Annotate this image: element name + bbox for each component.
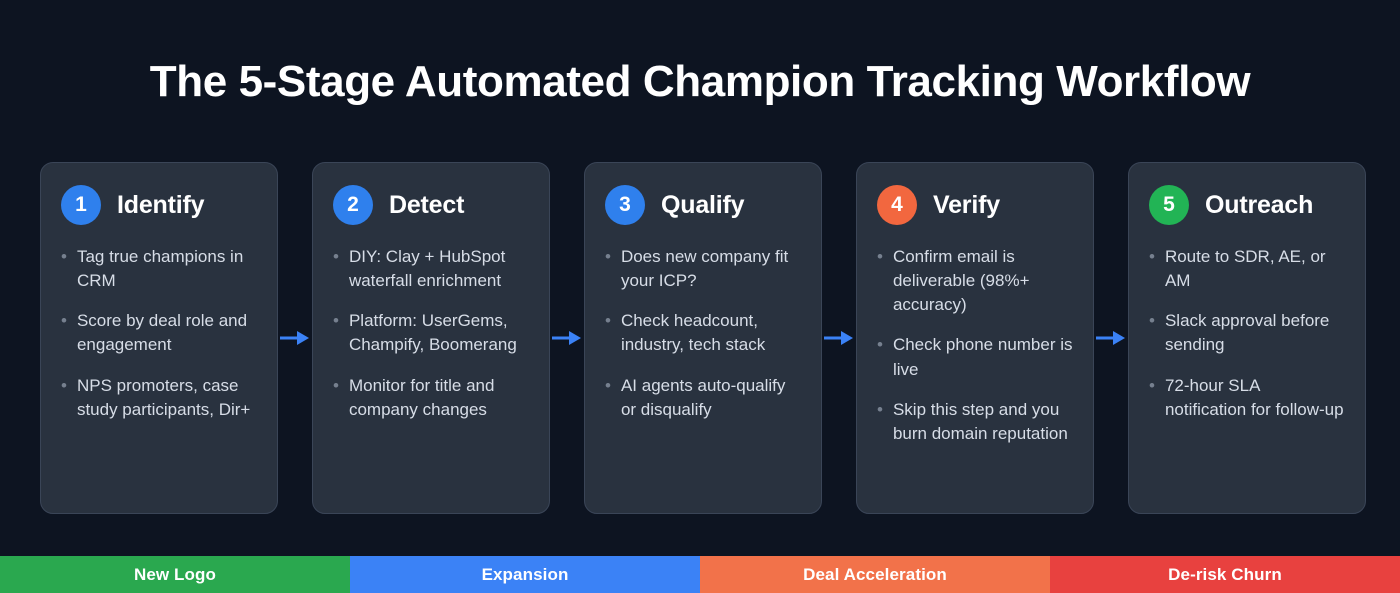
stage-number-badge: 4 — [877, 185, 917, 225]
stage-title: Outreach — [1205, 191, 1313, 220]
bullet-text: Monitor for title and company changes — [349, 374, 529, 422]
stage-card-header: 3Qualify — [605, 185, 801, 225]
bullet-text: Tag true champions in CRM — [77, 245, 257, 293]
bullet-text: 72-hour SLA notification for follow-up — [1165, 374, 1345, 422]
bullet-text: Confirm email is deliverable (98%+ accur… — [893, 245, 1073, 317]
bullet-dot-icon: • — [333, 374, 339, 422]
bullet-item: •Check phone number is live — [877, 333, 1073, 381]
legend-segment-deal-acceleration: Deal Acceleration — [700, 556, 1050, 593]
bullet-item: •Slack approval before sending — [1149, 309, 1345, 357]
arrow-right-icon — [822, 328, 856, 348]
legend-bar: New LogoExpansionDeal AccelerationDe-ris… — [0, 556, 1400, 593]
bullet-dot-icon: • — [877, 333, 883, 381]
stage-bullet-list: •DIY: Clay + HubSpot waterfall enrichmen… — [333, 245, 529, 422]
bullet-item: •Score by deal role and engagement — [61, 309, 257, 357]
legend-segment-expansion: Expansion — [350, 556, 700, 593]
stage-card-header: 4Verify — [877, 185, 1073, 225]
bullet-item: •Check headcount, industry, tech stack — [605, 309, 801, 357]
bullet-item: •Route to SDR, AE, or AM — [1149, 245, 1345, 293]
stage-title: Verify — [933, 191, 1000, 220]
stage-card-header: 5Outreach — [1149, 185, 1345, 225]
bullet-text: Platform: UserGems, Champify, Boomerang — [349, 309, 529, 357]
bullet-dot-icon: • — [1149, 245, 1155, 293]
bullet-dot-icon: • — [333, 245, 339, 293]
bullet-item: •AI agents auto-qualify or disqualify — [605, 374, 801, 422]
stage-title: Detect — [389, 191, 464, 220]
bullet-text: Check phone number is live — [893, 333, 1073, 381]
bullet-text: DIY: Clay + HubSpot waterfall enrichment — [349, 245, 529, 293]
stage-bullet-list: •Route to SDR, AE, or AM•Slack approval … — [1149, 245, 1345, 422]
bullet-dot-icon: • — [1149, 309, 1155, 357]
bullet-text: NPS promoters, case study participants, … — [77, 374, 257, 422]
bullet-item: •Monitor for title and company changes — [333, 374, 529, 422]
bullet-text: Does new company fit your ICP? — [621, 245, 801, 293]
arrow-4-5 — [1094, 162, 1128, 514]
bullet-text: Slack approval before sending — [1165, 309, 1345, 357]
bullet-dot-icon: • — [333, 309, 339, 357]
stage-card-outreach[interactable]: 5Outreach•Route to SDR, AE, or AM•Slack … — [1128, 162, 1366, 514]
bullet-text: Check headcount, industry, tech stack — [621, 309, 801, 357]
bullet-dot-icon: • — [877, 245, 883, 317]
stage-card-header: 1Identify — [61, 185, 257, 225]
bullet-text: Route to SDR, AE, or AM — [1165, 245, 1345, 293]
bullet-dot-icon: • — [61, 245, 67, 293]
bullet-item: •DIY: Clay + HubSpot waterfall enrichmen… — [333, 245, 529, 293]
arrow-3-4 — [822, 162, 856, 514]
stage-bullet-list: •Confirm email is deliverable (98%+ accu… — [877, 245, 1073, 446]
bullet-text: AI agents auto-qualify or disqualify — [621, 374, 801, 422]
bullet-dot-icon: • — [605, 245, 611, 293]
stage-number-badge: 2 — [333, 185, 373, 225]
stage-title: Identify — [117, 191, 204, 220]
workflow-stages-row: 1Identify•Tag true champions in CRM•Scor… — [40, 162, 1360, 514]
bullet-item: •72-hour SLA notification for follow-up — [1149, 374, 1345, 422]
stage-card-detect[interactable]: 2Detect•DIY: Clay + HubSpot waterfall en… — [312, 162, 550, 514]
arrow-right-icon — [1094, 328, 1128, 348]
stage-card-identify[interactable]: 1Identify•Tag true champions in CRM•Scor… — [40, 162, 278, 514]
stage-title: Qualify — [661, 191, 744, 220]
bullet-dot-icon: • — [61, 309, 67, 357]
stage-number-badge: 3 — [605, 185, 645, 225]
bullet-dot-icon: • — [1149, 374, 1155, 422]
bullet-item: •Does new company fit your ICP? — [605, 245, 801, 293]
stage-card-header: 2Detect — [333, 185, 529, 225]
bullet-dot-icon: • — [605, 374, 611, 422]
bullet-item: •Tag true champions in CRM — [61, 245, 257, 293]
arrow-1-2 — [278, 162, 312, 514]
stage-bullet-list: •Does new company fit your ICP?•Check he… — [605, 245, 801, 422]
bullet-text: Score by deal role and engagement — [77, 309, 257, 357]
bullet-dot-icon: • — [61, 374, 67, 422]
stage-bullet-list: •Tag true champions in CRM•Score by deal… — [61, 245, 257, 422]
arrow-2-3 — [550, 162, 584, 514]
bullet-item: •NPS promoters, case study participants,… — [61, 374, 257, 422]
bullet-item: •Confirm email is deliverable (98%+ accu… — [877, 245, 1073, 317]
legend-segment-de-risk-churn: De-risk Churn — [1050, 556, 1400, 593]
bullet-item: •Skip this step and you burn domain repu… — [877, 398, 1073, 446]
stage-number-badge: 1 — [61, 185, 101, 225]
arrow-right-icon — [550, 328, 584, 348]
bullet-dot-icon: • — [877, 398, 883, 446]
arrow-right-icon — [278, 328, 312, 348]
page-title: The 5-Stage Automated Champion Tracking … — [0, 0, 1400, 106]
bullet-item: •Platform: UserGems, Champify, Boomerang — [333, 309, 529, 357]
legend-segment-new-logo: New Logo — [0, 556, 350, 593]
bullet-dot-icon: • — [605, 309, 611, 357]
bullet-text: Skip this step and you burn domain reput… — [893, 398, 1073, 446]
stage-number-badge: 5 — [1149, 185, 1189, 225]
stage-card-verify[interactable]: 4Verify•Confirm email is deliverable (98… — [856, 162, 1094, 514]
stage-card-qualify[interactable]: 3Qualify•Does new company fit your ICP?•… — [584, 162, 822, 514]
